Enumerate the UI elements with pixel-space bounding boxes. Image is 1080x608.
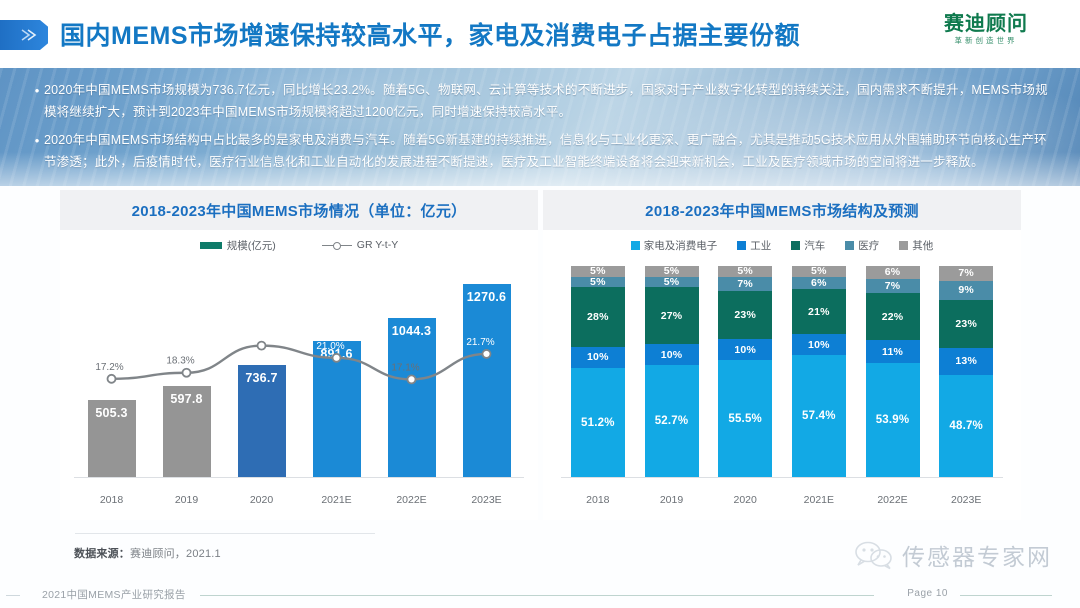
x-axis-line	[74, 477, 524, 478]
stack-segment: 27%	[645, 287, 699, 344]
x-axis-label: 2020	[708, 494, 782, 506]
stacked-bar: 7%9%23%13%48.7%	[939, 266, 993, 477]
legend-item: 家电及消费电子	[631, 238, 718, 253]
x-axis-label: 2019	[635, 494, 709, 506]
stack-segment: 7%	[866, 279, 920, 294]
stack-segment: 57.4%	[792, 355, 846, 477]
stack-segment: 10%	[718, 339, 772, 360]
bar: 736.7	[238, 365, 286, 477]
x-axis-label: 2023E	[449, 494, 524, 506]
left-chart-legend: 规模(亿元) GR Y-t-Y	[60, 230, 538, 260]
bullet-marker: •	[30, 130, 44, 173]
slide-root: 国内MEMS市场增速保持较高水平，家电及消费电子占据主要份额 赛迪顾问 革新创造…	[0, 0, 1080, 608]
stack-segment: 23%	[939, 300, 993, 348]
stack-segment: 55.5%	[718, 360, 772, 477]
slide-footer: 2021中国MEMS产业研究报告 Page 10	[0, 584, 1080, 608]
stacked-bar-column: 5%6%21%10%57.4%	[782, 266, 856, 477]
stacked-bar: 5%5%27%10%52.7%	[645, 266, 699, 477]
x-axis-label: 2023E	[929, 494, 1003, 506]
stacked-bar: 5%7%23%10%55.5%	[718, 266, 772, 477]
stack-segment: 5%	[645, 277, 699, 288]
legend-label: 医疗	[858, 238, 879, 253]
bullet-text: 2020年中国MEMS市场结构中占比最多的是家电及消费与汽车。随着5G新基建的持…	[44, 130, 1050, 173]
stack-segment: 5%	[571, 266, 625, 277]
stack-segment: 22%	[866, 293, 920, 339]
right-chart-title: 2018-2023年中国MEMS市场结构及预测	[645, 200, 919, 221]
page-number: Page 10	[907, 588, 948, 599]
x-axis-labels: 2018201920202021E2022E2023E	[561, 494, 1003, 506]
x-axis-labels: 2018201920202021E2022E2023E	[74, 494, 524, 506]
stack-segment: 6%	[792, 277, 846, 290]
bar-column: 1044.3	[374, 264, 449, 477]
watermark: 传感器专家网	[854, 538, 1052, 572]
stack-segment: 53.9%	[866, 363, 920, 477]
stack-segment: 10%	[571, 347, 625, 368]
x-axis-label: 2018	[74, 494, 149, 506]
stacked-bar-column: 7%9%23%13%48.7%	[929, 266, 1003, 477]
legend-item-growth: GR Y-t-Y	[322, 239, 398, 251]
legend-swatch	[737, 241, 746, 250]
footer-report-name: 2021中国MEMS产业研究报告	[42, 587, 186, 602]
x-axis-label: 2020	[224, 494, 299, 506]
stack-segment: 48.7%	[939, 375, 993, 477]
legend-label: 汽车	[804, 238, 825, 253]
stack-segment: 28%	[571, 287, 625, 347]
list-item: • 2020年中国MEMS市场规模为736.7亿元，同比增长23.2%。随着5G…	[30, 80, 1050, 123]
left-chart-panel: 2018-2023年中国MEMS市场情况（单位：亿元） 规模(亿元) GR Y-…	[60, 190, 538, 520]
bullet-marker: •	[30, 80, 44, 123]
bar-column: 597.8	[149, 264, 224, 477]
source-note: 数据来源：赛迪顾问，2021.1	[74, 545, 221, 561]
stack-segment: 13%	[939, 348, 993, 375]
source-value: 赛迪顾问，2021.1	[130, 548, 221, 560]
bar-value-label: 1044.3	[388, 324, 436, 338]
x-axis-label: 2018	[561, 494, 635, 506]
x-axis-label: 2019	[149, 494, 224, 506]
stack-segment: 6%	[866, 266, 920, 279]
legend-item: 其他	[899, 238, 933, 253]
stack-segment: 5%	[645, 266, 699, 277]
legend-label: GR Y-t-Y	[357, 239, 398, 251]
bullet-text: 2020年中国MEMS市场规模为736.7亿元，同比增长23.2%。随着5G、物…	[44, 80, 1050, 123]
chevron-right-icon	[20, 29, 38, 41]
footer-dash	[6, 595, 20, 596]
logo-name: 赛迪顾问	[926, 12, 1046, 35]
bar-column: 891.6	[299, 264, 374, 477]
legend-swatch	[845, 241, 854, 250]
bar-value-label: 505.3	[88, 406, 136, 420]
stack-segment: 51.2%	[571, 368, 625, 477]
bar-column: 505.3	[74, 264, 149, 477]
logo-tagline: 革新创造世界	[926, 35, 1046, 46]
bar-value-label: 736.7	[238, 371, 286, 385]
page-title: 国内MEMS市场增速保持较高水平，家电及消费电子占据主要份额	[60, 16, 800, 56]
right-chart-panel: 2018-2023年中国MEMS市场结构及预测 家电及消费电子工业汽车医疗其他 …	[543, 190, 1021, 520]
right-chart-plot: 5%5%28%10%51.2%5%5%27%10%52.7%5%7%23%10%…	[561, 260, 1003, 512]
wechat-icon	[854, 540, 894, 570]
stacked-bar: 5%5%28%10%51.2%	[571, 266, 625, 477]
arrow-icon	[0, 20, 58, 50]
bar: 891.6	[313, 341, 361, 477]
bullet-list: • 2020年中国MEMS市场规模为736.7亿元，同比增长23.2%。随着5G…	[0, 68, 1080, 180]
legend-item: 汽车	[791, 238, 825, 253]
bar: 505.3	[88, 400, 136, 477]
stacked-bar-group: 5%5%28%10%51.2%5%5%27%10%52.7%5%7%23%10%…	[561, 266, 1003, 477]
left-chart-header: 2018-2023年中国MEMS市场情况（单位：亿元）	[60, 190, 538, 230]
legend-label: 家电及消费电子	[644, 238, 718, 253]
stack-segment: 5%	[792, 266, 846, 277]
stack-segment: 5%	[571, 277, 625, 288]
legend-label: 其他	[912, 238, 933, 253]
legend-swatch-line	[322, 241, 352, 250]
stacked-bar-column: 5%5%27%10%52.7%	[635, 266, 709, 477]
legend-item: 医疗	[845, 238, 879, 253]
right-chart-legend: 家电及消费电子工业汽车医疗其他	[543, 230, 1021, 260]
watermark-text: 传感器专家网	[902, 538, 1052, 572]
legend-swatch	[791, 241, 800, 250]
stacked-bar: 5%6%21%10%57.4%	[792, 266, 846, 477]
stacked-bar: 6%7%22%11%53.9%	[866, 266, 920, 477]
bar-group: 505.3597.8736.7891.61044.31270.6	[74, 264, 524, 477]
legend-swatch	[631, 241, 640, 250]
stacked-bar-column: 6%7%22%11%53.9%	[856, 266, 930, 477]
stack-segment: 10%	[792, 334, 846, 355]
banner-background: • 2020年中国MEMS市场规模为736.7亿元，同比增长23.2%。随着5G…	[0, 68, 1080, 186]
stack-segment: 5%	[718, 266, 772, 277]
x-axis-label: 2022E	[374, 494, 449, 506]
slide-header: 国内MEMS市场增速保持较高水平，家电及消费电子占据主要份额 赛迪顾问 革新创造…	[0, 0, 1080, 68]
right-chart-header: 2018-2023年中国MEMS市场结构及预测	[543, 190, 1021, 230]
x-axis-label: 2021E	[299, 494, 374, 506]
legend-item: 工业	[737, 238, 771, 253]
left-chart-title: 2018-2023年中国MEMS市场情况（单位：亿元）	[132, 200, 467, 221]
company-logo: 赛迪顾问 革新创造世界	[926, 12, 1046, 46]
bar-column: 1270.6	[449, 264, 524, 477]
stack-segment: 23%	[718, 291, 772, 339]
list-item: • 2020年中国MEMS市场结构中占比最多的是家电及消费与汽车。随着5G新基建…	[30, 130, 1050, 173]
bar-column: 736.7	[224, 264, 299, 477]
stack-segment: 21%	[792, 289, 846, 334]
legend-swatch-bar	[200, 242, 222, 249]
bar-value-label: 597.8	[163, 392, 211, 406]
stacked-bar-column: 5%7%23%10%55.5%	[708, 266, 782, 477]
footer-rule-right	[960, 595, 1052, 596]
stacked-bar-column: 5%5%28%10%51.2%	[561, 266, 635, 477]
stack-segment: 52.7%	[645, 365, 699, 477]
legend-label: 工业	[750, 238, 771, 253]
x-axis-line	[561, 477, 1003, 478]
stack-segment: 10%	[645, 344, 699, 365]
stack-segment: 11%	[866, 340, 920, 363]
bar-value-label: 1270.6	[463, 290, 511, 304]
left-chart-plot: 505.3597.8736.7891.61044.31270.6 17.2%18…	[74, 260, 524, 512]
legend-label: 规模(亿元)	[227, 238, 276, 253]
stack-segment: 7%	[939, 266, 993, 281]
x-axis-label: 2022E	[856, 494, 930, 506]
legend-item-scale: 规模(亿元)	[200, 238, 276, 253]
bar: 1044.3	[388, 318, 436, 477]
bar: 597.8	[163, 386, 211, 477]
source-divider	[75, 533, 375, 534]
stack-segment: 7%	[718, 277, 772, 292]
x-axis-label: 2021E	[782, 494, 856, 506]
bar: 1270.6	[463, 284, 511, 477]
bar-value-label: 891.6	[313, 347, 361, 361]
stack-segment: 9%	[939, 281, 993, 300]
legend-swatch	[899, 241, 908, 250]
source-label: 数据来源：	[74, 548, 130, 560]
footer-rule	[200, 595, 874, 596]
